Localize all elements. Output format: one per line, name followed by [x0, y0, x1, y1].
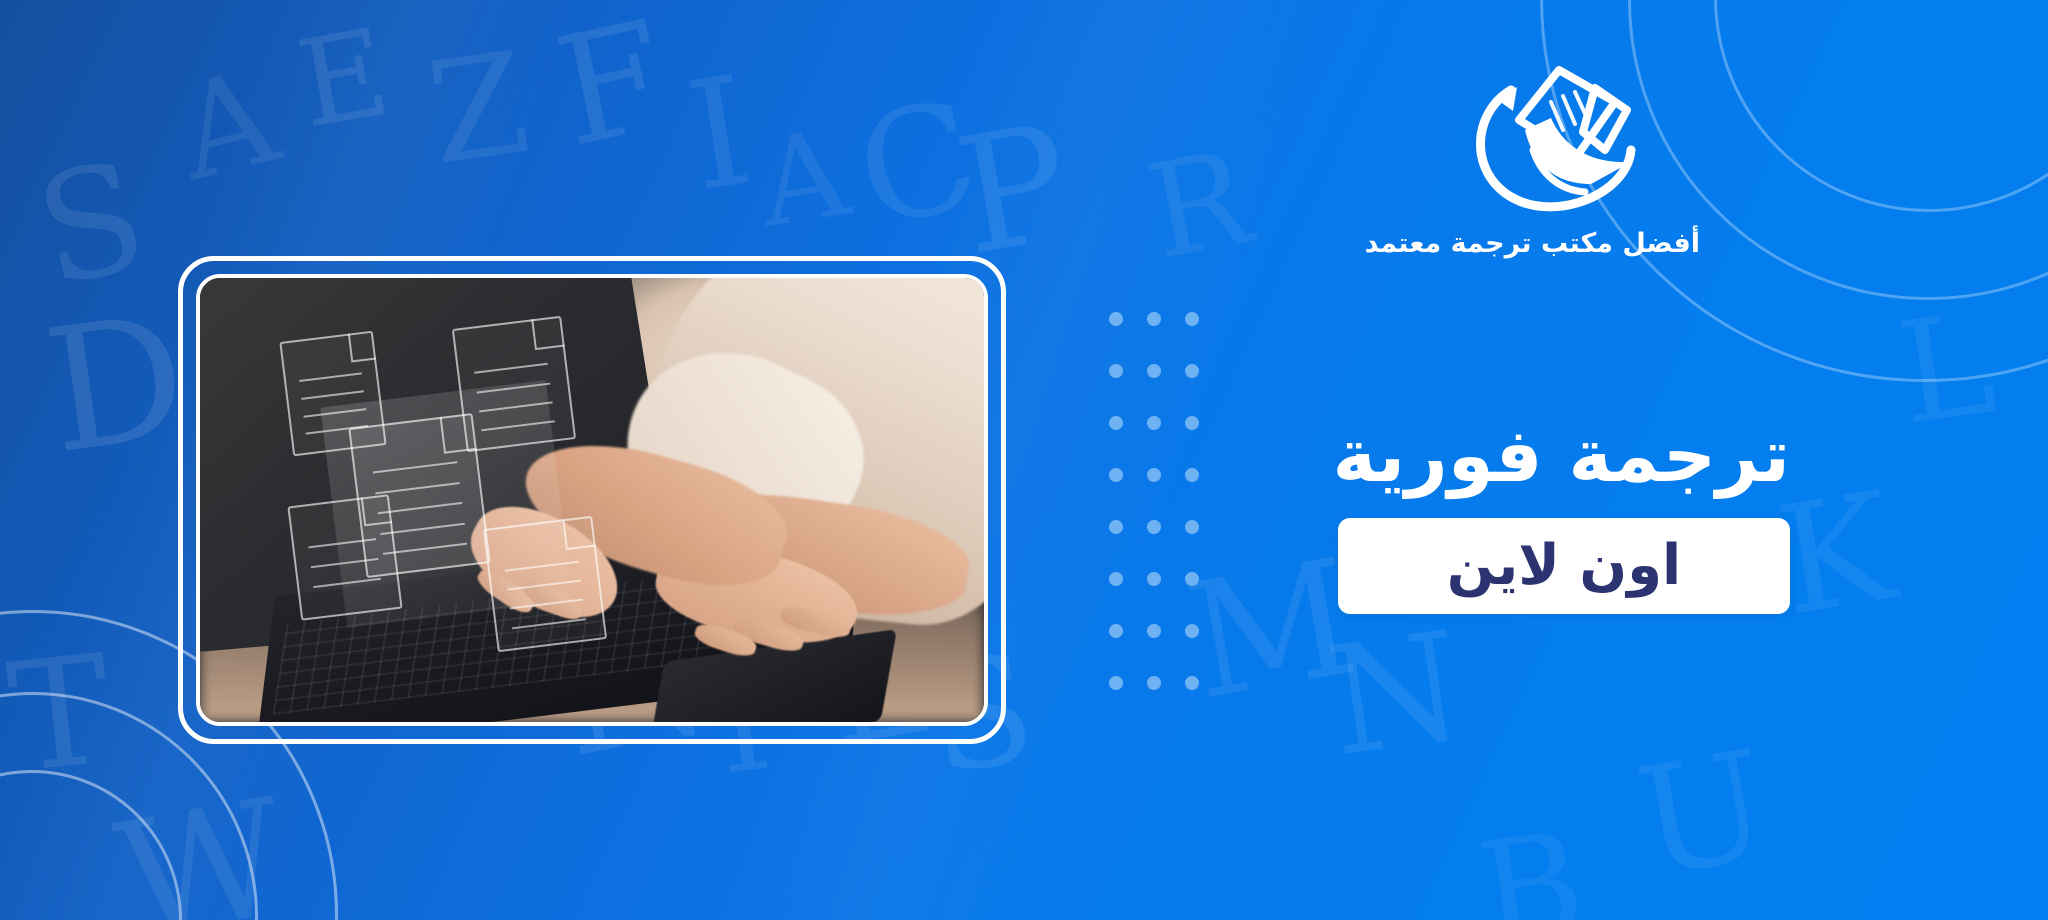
grid-dot: [1185, 572, 1199, 586]
background-letter: T: [2, 635, 117, 795]
grid-dot: [1185, 364, 1199, 378]
grid-dot: [1147, 312, 1161, 326]
grid-dot: [1109, 468, 1123, 482]
document-icon: [483, 516, 607, 653]
background-letter: F: [546, 1, 679, 169]
document-icon: [287, 494, 402, 621]
grid-dot: [1185, 624, 1199, 638]
background-letter: C: [846, 80, 989, 251]
grid-dot: [1147, 520, 1161, 534]
grid-dot: [1147, 624, 1161, 638]
grid-dot: [1109, 572, 1123, 586]
grid-dot: [1109, 416, 1123, 430]
background-letter: I: [679, 56, 761, 213]
corner-arc-top-right-inner: [1714, 0, 2048, 212]
subtitle-text: اون لاين: [1447, 538, 1681, 594]
laptop-typing-scene: [200, 278, 984, 722]
background-letter: A: [751, 114, 855, 246]
background-letter: D: [37, 291, 196, 478]
corner-arc-bottom-left-inner: [0, 770, 182, 920]
background-letter: W: [107, 777, 297, 920]
background-letter: U: [1628, 730, 1779, 900]
grid-dot: [1185, 676, 1199, 690]
holographic-documents-overlay: [200, 278, 984, 722]
subtitle-badge[interactable]: اون لاين: [1338, 518, 1790, 614]
background-letter: E: [290, 13, 397, 146]
grid-dot: [1109, 364, 1123, 378]
background-letter: Z: [421, 34, 537, 186]
background-letter: A: [166, 51, 289, 200]
grid-dot: [1185, 416, 1199, 430]
hero-photo: [196, 274, 988, 726]
brand-logo: أفضل مكتب ترجمة معتمد: [1400, 58, 1700, 259]
background-letter: R: [1138, 132, 1259, 278]
hero-photo-frame: [178, 256, 1006, 744]
background-letter: S: [26, 141, 158, 309]
grid-dot: [1185, 468, 1199, 482]
grid-dot: [1185, 520, 1199, 534]
grid-dot: [1109, 520, 1123, 534]
grid-dot: [1147, 676, 1161, 690]
promo-banner: SDTWAEZFINTESPCAMNRKLUGB: [0, 0, 2048, 920]
grid-dot: [1109, 676, 1123, 690]
background-letter: L: [1891, 294, 2003, 446]
grid-dot: [1185, 312, 1199, 326]
open-book-with-arrow-icon: [1455, 58, 1645, 218]
background-letter: B: [1471, 814, 1592, 920]
background-letter: N: [1320, 612, 1471, 779]
grid-dot: [1147, 468, 1161, 482]
grid-dot: [1109, 312, 1123, 326]
background-letter: P: [947, 102, 1081, 278]
logo-tagline: أفضل مكتب ترجمة معتمد: [1400, 228, 1700, 259]
decorative-dot-grid: [1085, 312, 1199, 728]
grid-dot: [1147, 416, 1161, 430]
grid-dot: [1147, 572, 1161, 586]
page-title: ترجمة فورية: [1338, 418, 1790, 496]
grid-dot: [1109, 624, 1123, 638]
grid-dot: [1147, 364, 1161, 378]
headline-block: ترجمة فورية اون لاين: [1338, 418, 1790, 614]
